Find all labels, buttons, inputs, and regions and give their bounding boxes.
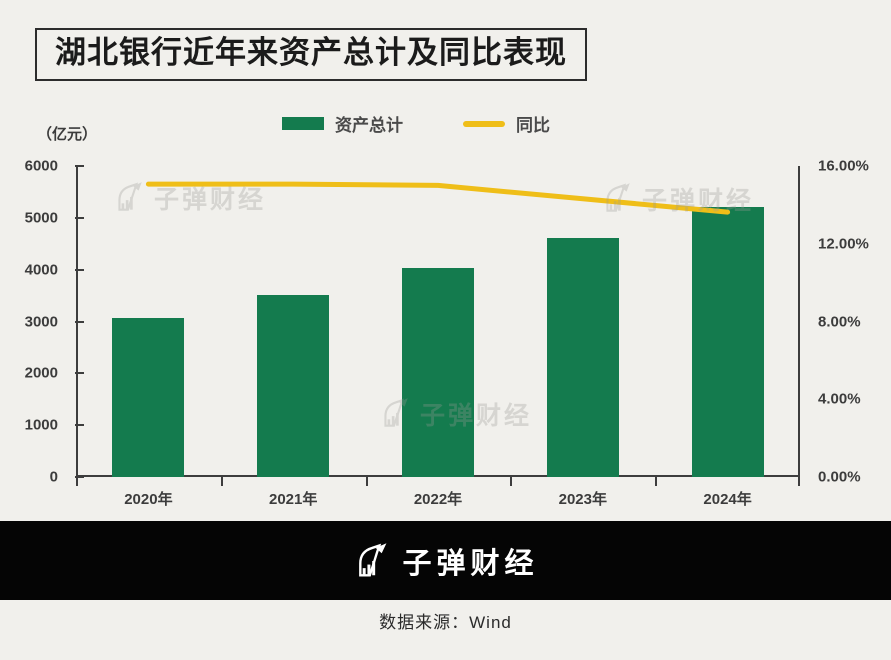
y-axis-left-tick <box>75 165 84 167</box>
y-axis-right-tick-label: 0.00% <box>818 469 861 486</box>
y-axis-left-tick-label: 1000 <box>0 417 58 434</box>
x-axis-label-2022年: 2022年 <box>414 488 462 509</box>
y-axis-left-tick-label: 6000 <box>0 158 58 175</box>
bar-2023年[interactable] <box>547 238 619 477</box>
y-axis-left-tick-label: 4000 <box>0 261 58 278</box>
rocket-chart-icon <box>352 542 390 580</box>
x-axis-tick <box>655 477 657 486</box>
footer-brand-text: 子弹财经 <box>402 540 538 582</box>
x-axis-label-2020年: 2020年 <box>124 488 172 509</box>
footer-brand-bar: 子弹财经 <box>0 521 891 600</box>
x-axis-tick <box>221 477 223 486</box>
x-axis-tick <box>798 477 800 486</box>
watermark-1: 子弹财经 <box>112 180 266 216</box>
x-axis-label-2024年: 2024年 <box>703 488 751 509</box>
y-axis-right-line <box>798 166 800 477</box>
bar-2024年[interactable] <box>692 207 764 477</box>
chart-legend: 资产总计 同比 <box>282 111 550 136</box>
x-axis-tick <box>510 477 512 486</box>
y-axis-left-tick-label: 3000 <box>0 313 58 330</box>
watermark-text: 子弹财经 <box>154 180 266 216</box>
y-axis-left-tick <box>75 269 84 271</box>
legend-label-yoy: 同比 <box>516 111 550 136</box>
rocket-chart-icon <box>112 181 146 215</box>
y-axis-right-tick-label: 16.00% <box>818 158 869 175</box>
y-axis-right-tick-label: 12.00% <box>818 235 869 252</box>
y-axis-left-tick-label: 2000 <box>0 365 58 382</box>
y-axis-left-tick <box>75 217 84 219</box>
chart-plot-area: 0100020003000400050006000 0.00%4.00%8.00… <box>76 166 800 477</box>
chart-title-box: 湖北银行近年来资产总计及同比表现 <box>35 28 587 81</box>
yoy-line-path <box>148 184 727 212</box>
y-axis-left-tick <box>75 321 84 323</box>
y-axis-left-tick <box>75 372 84 374</box>
y-axis-left-tick-label: 5000 <box>0 209 58 226</box>
chart-title-container: 湖北银行近年来资产总计及同比表现 <box>35 28 587 81</box>
x-axis-tick <box>76 477 78 486</box>
legend-item-yoy[interactable]: 同比 <box>463 111 550 136</box>
bar-2021年[interactable] <box>257 295 329 477</box>
legend-bar-swatch-icon <box>282 117 324 130</box>
x-axis-label-2023年: 2023年 <box>559 488 607 509</box>
rocket-chart-icon <box>600 182 634 216</box>
y-axis-left-tick <box>75 424 84 426</box>
data-source-note: 数据来源：Wind <box>0 608 891 633</box>
legend-line-swatch-icon <box>463 121 505 127</box>
bar-2020年[interactable] <box>112 318 184 477</box>
y-axis-unit-label: （亿元） <box>37 123 97 144</box>
y-axis-left-tick-label: 0 <box>0 469 58 486</box>
y-axis-right-tick-label: 8.00% <box>818 313 861 330</box>
x-axis-label-2021年: 2021年 <box>269 488 317 509</box>
x-axis-tick <box>366 477 368 486</box>
legend-item-assets[interactable]: 资产总计 <box>282 111 403 136</box>
bar-2022年[interactable] <box>402 268 474 477</box>
page-title: 湖北银行近年来资产总计及同比表现 <box>55 37 567 70</box>
legend-label-assets: 资产总计 <box>335 111 403 136</box>
y-axis-right-tick-label: 4.00% <box>818 391 861 408</box>
